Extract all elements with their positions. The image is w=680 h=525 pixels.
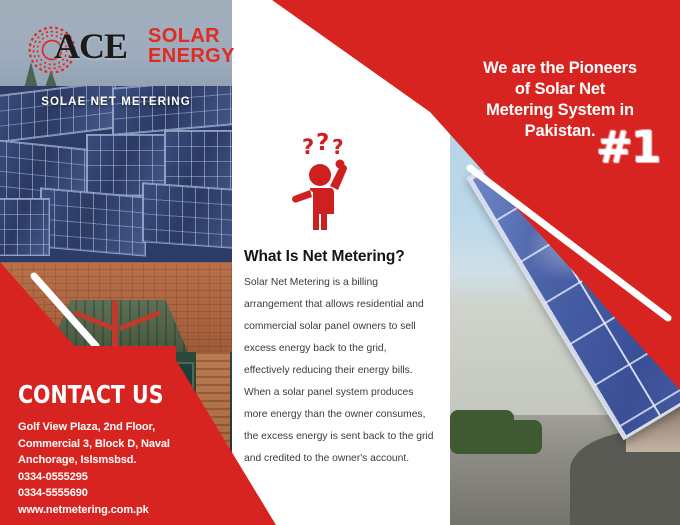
address-line: Golf View Plaza, 2nd Floor,: [18, 419, 228, 436]
pv-module: [112, 86, 232, 136]
body-line: the excess energy is sent back to the gr…: [244, 426, 440, 448]
net-metering-description: Solar Net Metering is a billing arrangem…: [244, 272, 440, 470]
confused-person-icon: ? ? ?: [288, 130, 364, 230]
center-panel: ? ? ? What Is Net Metering? Solar Net Me…: [232, 0, 440, 525]
svg-text:?: ?: [316, 130, 329, 156]
headline-line: We are the Pioneers: [452, 58, 668, 79]
rank-one-badge: #1: [596, 126, 659, 170]
pv-module: [0, 198, 50, 256]
solae-net-metering-banner: SOLAE NET METERING: [0, 96, 232, 108]
body-line: more energy than the owner consumes,: [244, 404, 440, 426]
pv-module: [164, 130, 232, 192]
logo-wordmark: SOLAR ENERGY: [148, 26, 235, 67]
phone-number-2[interactable]: 0334-5555690: [18, 485, 228, 502]
tiled-awning: [48, 300, 188, 352]
svg-text:?: ?: [302, 135, 314, 159]
contact-block: CONTACT US Golf View Plaza, 2nd Floor, C…: [18, 380, 228, 518]
hedge-shrub: [490, 420, 542, 454]
awning-ridge: [112, 300, 118, 348]
contact-title: CONTACT US: [18, 380, 190, 409]
website-url[interactable]: www.netmetering.com.pk: [18, 502, 228, 519]
pv-module: [40, 187, 146, 256]
body-line: arrangement that allows residential and: [244, 294, 440, 316]
page-title: What Is Net Metering?: [244, 248, 440, 266]
headline-line: of Solar Net: [452, 79, 668, 100]
svg-text:?: ?: [332, 135, 344, 159]
address-line: Commercial 3, Block D, Naval: [18, 436, 228, 453]
logo-energy-text: ENERGY: [148, 46, 235, 66]
body-line: commercial solar panel owners to sell: [244, 316, 440, 338]
brochure-page: SOLAE NET METERING ACE SOLAR ENERGY ? ? …: [0, 0, 680, 525]
logo-ace-text: ACE: [54, 28, 127, 64]
body-line: effectively reducing their energy bills.: [244, 360, 440, 382]
pv-module: [142, 182, 232, 249]
body-line: Solar Net Metering is a billing: [244, 272, 440, 294]
headline-line: Metering System in: [452, 100, 668, 121]
ace-solar-energy-logo: ACE SOLAR ENERGY: [24, 18, 204, 80]
solar-array-region: [0, 86, 232, 266]
address-line: Anchorage, Islsmsbsd.: [18, 452, 228, 469]
logo-solar-text: SOLAR: [148, 26, 235, 46]
body-line: and credited to the owner's account.: [244, 448, 440, 470]
body-line: excess energy back to the grid,: [244, 338, 440, 360]
phone-number-1[interactable]: 0334-0555295: [18, 469, 228, 486]
body-line: When a solar panel system produces: [244, 382, 440, 404]
